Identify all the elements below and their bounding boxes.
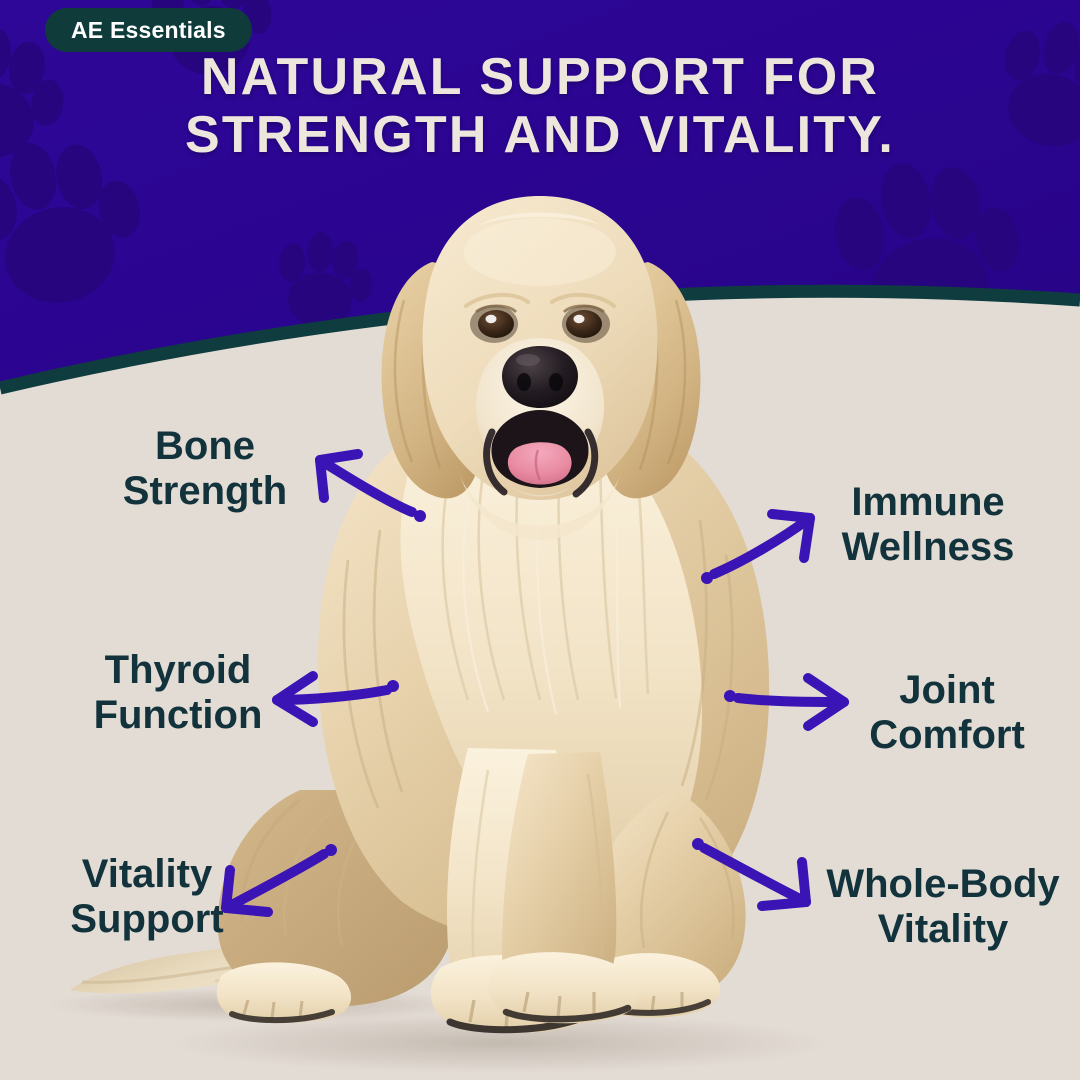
callout-immune-wellness: Immune Wellness bbox=[828, 480, 1028, 570]
headline-line-2: STRENGTH AND VITALITY. bbox=[0, 106, 1080, 164]
callout-whole-body-vitality-line-2: Vitality bbox=[818, 907, 1068, 952]
callout-thyroid-function-line-2: Function bbox=[78, 693, 278, 738]
arrow-left-icon bbox=[265, 668, 400, 730]
arrow-up-left-icon bbox=[300, 440, 430, 525]
dog-rear-right-haunch bbox=[584, 792, 746, 1002]
callout-immune-wellness-line-1: Immune bbox=[828, 480, 1028, 525]
dog-front-leg-left bbox=[431, 748, 601, 1033]
callout-bone-strength-line-2: Strength bbox=[110, 469, 300, 514]
body-fur-strands bbox=[344, 520, 732, 808]
dog-front-leg-right bbox=[489, 752, 640, 1023]
chest-fur-strands bbox=[443, 448, 648, 700]
dog-paw-rear-left bbox=[217, 962, 351, 1023]
dog-chest-ruff bbox=[400, 408, 702, 892]
dog-tail bbox=[70, 944, 430, 993]
page-title: NATURAL SUPPORT FOR STRENGTH AND VITALIT… bbox=[0, 48, 1080, 164]
poster-canvas: AE Essentials NATURAL SUPPORT FOR STRENG… bbox=[0, 0, 1080, 1080]
callout-immune-wellness-line-2: Wellness bbox=[828, 525, 1028, 570]
callout-joint-comfort-line-1: Joint bbox=[852, 668, 1042, 713]
callout-bone-strength-line-1: Bone bbox=[110, 424, 300, 469]
ground-shadow bbox=[170, 1013, 830, 1073]
dog-rear-haunch bbox=[218, 790, 455, 1006]
callout-joint-comfort-line-2: Comfort bbox=[852, 713, 1042, 758]
callout-vitality-support-line-1: Vitality bbox=[52, 852, 242, 897]
callout-vitality-support: Vitality Support bbox=[52, 852, 242, 942]
dog-tongue bbox=[508, 442, 572, 484]
headline-line-1: NATURAL SUPPORT FOR bbox=[201, 48, 879, 106]
callout-thyroid-function-line-1: Thyroid bbox=[78, 648, 278, 693]
callout-thyroid-function: Thyroid Function bbox=[78, 648, 278, 738]
dog-paw-rear-right bbox=[588, 953, 720, 1018]
arrow-down-right-icon bbox=[690, 836, 822, 918]
brand-badge[interactable]: AE Essentials bbox=[45, 8, 252, 52]
callout-whole-body-vitality-line-1: Whole-Body bbox=[818, 862, 1068, 907]
arrow-up-right-icon bbox=[698, 500, 828, 585]
tail-shadow bbox=[45, 988, 475, 1022]
callout-vitality-support-line-2: Support bbox=[52, 897, 242, 942]
arrow-right-icon bbox=[722, 672, 857, 734]
callout-joint-comfort: Joint Comfort bbox=[852, 668, 1042, 758]
dog-torso bbox=[318, 420, 769, 944]
callout-bone-strength: Bone Strength bbox=[110, 424, 300, 514]
dog-neck bbox=[458, 470, 622, 540]
brand-badge-label: AE Essentials bbox=[71, 17, 226, 44]
callout-whole-body-vitality: Whole-Body Vitality bbox=[818, 862, 1068, 952]
dog-mouth-open bbox=[491, 410, 588, 488]
